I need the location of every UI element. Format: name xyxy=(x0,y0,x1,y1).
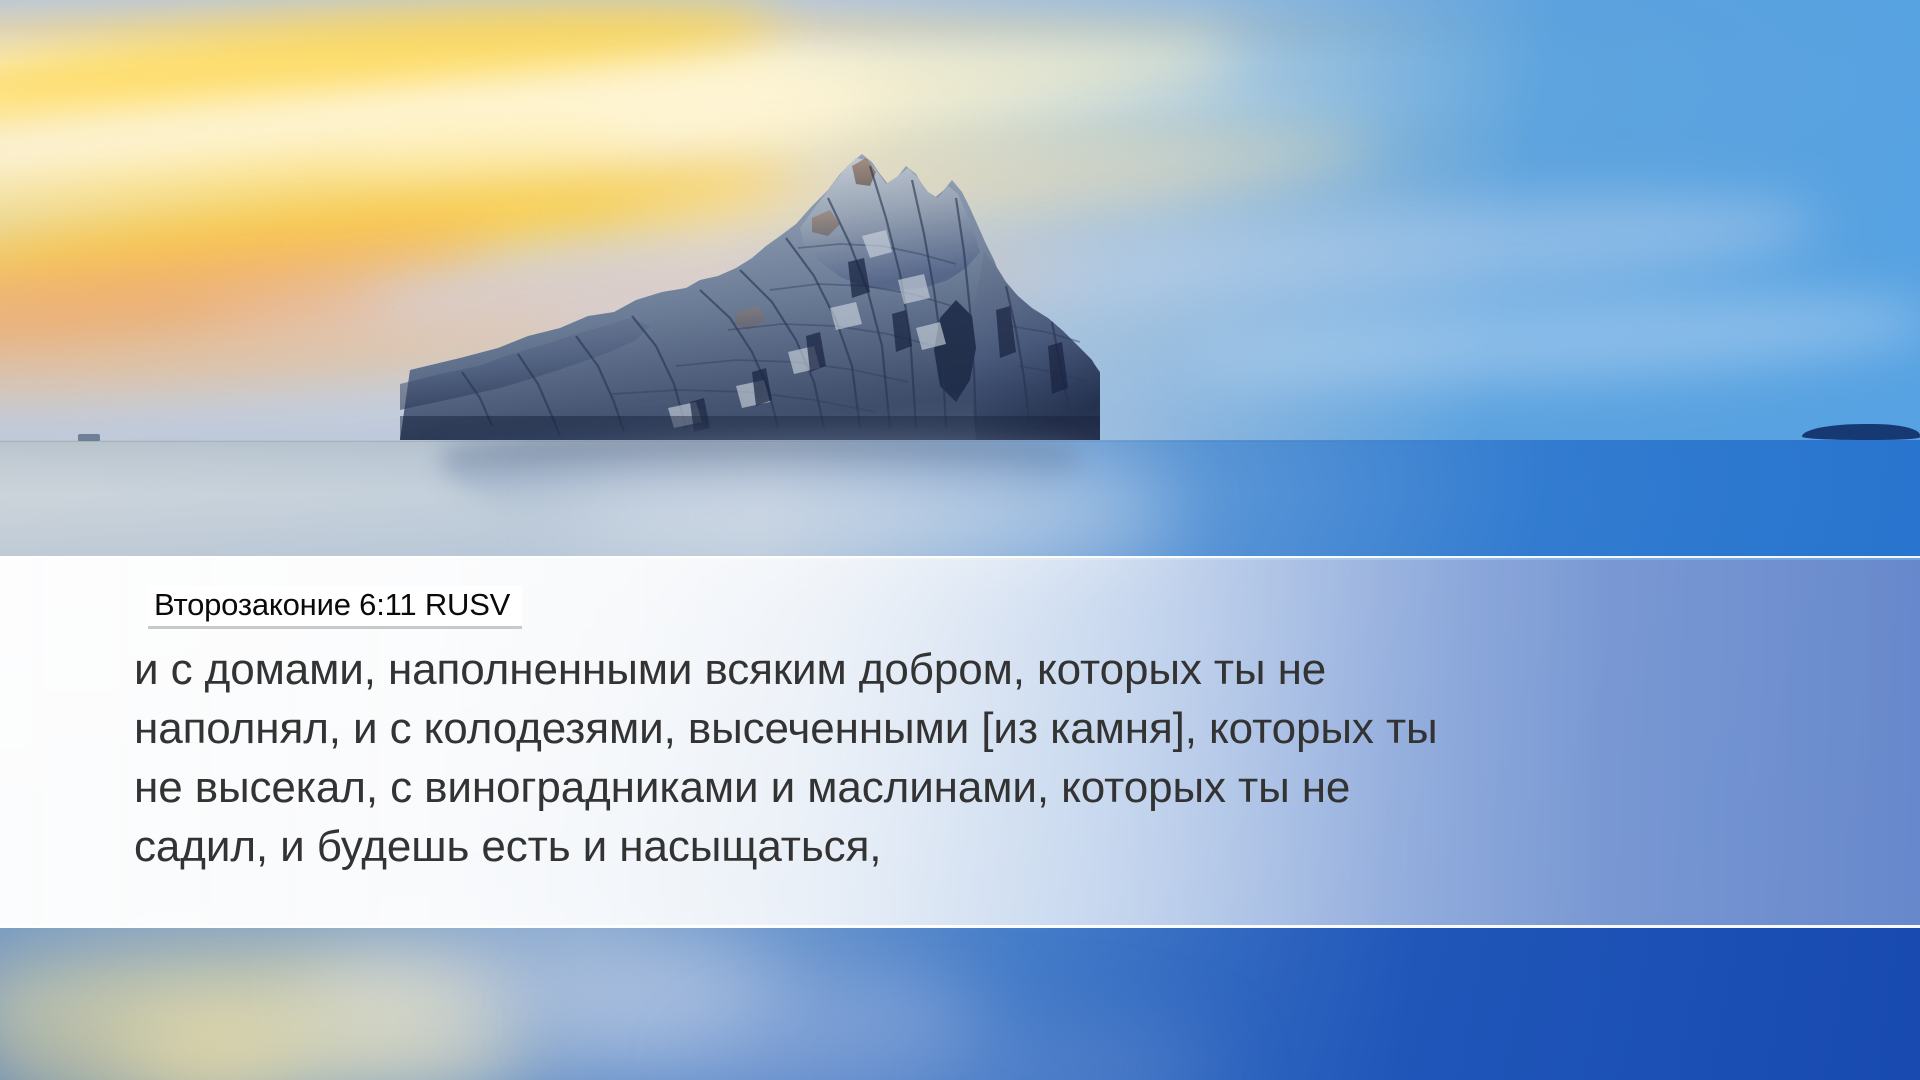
rock-formation xyxy=(400,140,1100,440)
rock-right-pinnacle xyxy=(970,252,1100,440)
verse-line: наполнял, и с колодезями, высеченными [и… xyxy=(134,699,1634,758)
verse-line: не высекал, с виноградниками и маслинами… xyxy=(134,758,1634,817)
cloud-band-icon xyxy=(0,0,782,153)
rock-formation-svg xyxy=(400,140,1100,440)
cloud-band-icon xyxy=(0,273,401,373)
verse-citation-label: Второзаконие 6:11 RUSV xyxy=(148,586,522,629)
verse-image-canvas: Второзаконие 6:11 RUSV и с домами, напол… xyxy=(0,0,1920,1080)
cloud-band-icon xyxy=(998,178,1822,327)
cloud-band-icon xyxy=(1178,280,1920,400)
verse-text-block: и с домами, наполненными всяким добром, … xyxy=(134,640,1634,876)
distant-boat-icon xyxy=(78,434,100,441)
verse-line: и с домами, наполненными всяким добром, … xyxy=(134,640,1634,699)
verse-line: садил, и будешь есть и насыщаться, xyxy=(134,817,1634,876)
